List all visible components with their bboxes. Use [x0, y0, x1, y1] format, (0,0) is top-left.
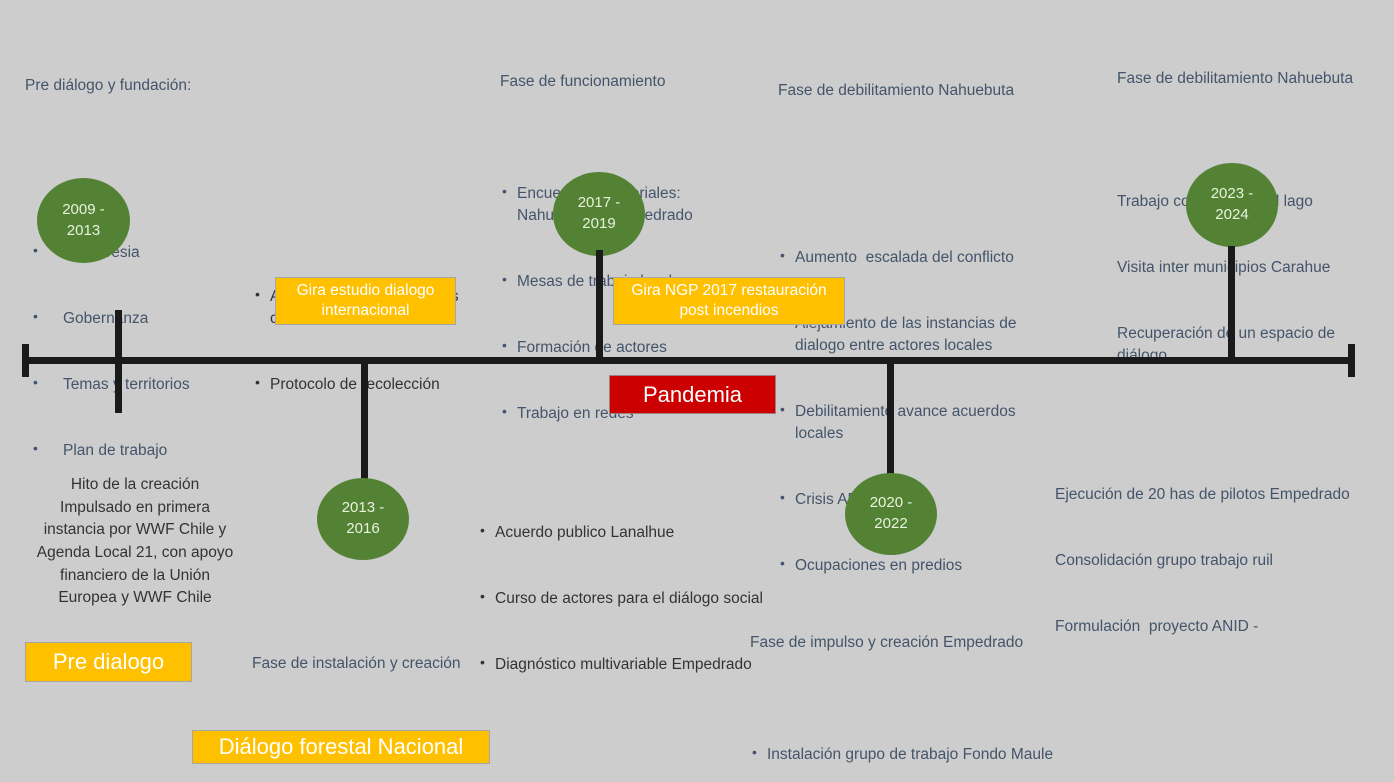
phase-impulso-empedrado-heading: Fase de impulso y creación Empedrado	[750, 632, 1090, 654]
timeline-axis-cap-left	[22, 344, 29, 377]
phase-debilitamiento-1-block: Fase de debilitamiento Nahuebuta Aumento…	[778, 36, 1040, 665]
timeline-stem-2017-2019	[596, 250, 603, 360]
list-item: Formación de actores	[500, 337, 750, 359]
phase-debilitamiento-2-heading: Fase de debilitamiento Nahuebuta	[1117, 68, 1379, 90]
phase-impulso-empedrado-block: Fase de impulso y creación Empedrado Ins…	[750, 588, 1090, 782]
gira-ngp-box[interactable]: Gira NGP 2017 restauración post incendio…	[613, 277, 845, 325]
spacer	[1117, 136, 1379, 147]
pre-dialogo-box[interactable]: Pre dialogo	[25, 642, 192, 682]
timeline-diagram: Pre diálogo y fundación: Membresia Gober…	[0, 0, 1394, 782]
list-item: Protocolo de recolección	[253, 374, 463, 396]
phase-pre-dialogo-heading: Pre diálogo y fundación:	[25, 75, 305, 97]
phase-impulso-empedrado-bullets: Instalación grupo de trabajo Fondo Maule…	[750, 700, 1090, 782]
acuerdo-futa-bullets: Acuerdo publico Futa y tres chiflones Pr…	[253, 242, 463, 440]
pandemia-badge[interactable]: Pandemia	[609, 375, 776, 414]
milestone-circle-2020-2022[interactable]: 2020 - 2022	[845, 473, 937, 555]
milestone-circle-2017-2019[interactable]: 2017 - 2019	[553, 172, 645, 256]
list-item: Curso de actores para el diálogo social	[478, 588, 788, 610]
phase-instalacion-heading: Fase de instalación y creación	[252, 653, 542, 675]
phase-debilitamiento-1-bullets: Aumento escalada del conflicto Alejamien…	[778, 203, 1040, 621]
timeline-stem-2023-2024	[1228, 246, 1235, 361]
list-item: Instalación grupo de trabajo Fondo Maule	[750, 744, 1090, 766]
phase-funcionamiento-heading: Fase de funcionamiento	[500, 71, 750, 93]
text-line: Formulación proyecto ANID -	[1055, 616, 1385, 638]
dialogo-forestal-nacional-box[interactable]: Diálogo forestal Nacional	[192, 730, 490, 764]
text-line: Ejecución de 20 has de pilotos Empedrado	[1055, 484, 1385, 506]
milestone-circle-2009-2013[interactable]: 2009 - 2013	[37, 178, 130, 263]
list-item: Aumento escalada del conflicto	[778, 247, 1040, 269]
timeline-stem-2013-2016	[361, 360, 368, 490]
phase-instalacion-bullets: Diagnósticos territoriales Planes de tra…	[252, 776, 542, 782]
gira-estudio-dialogo-box[interactable]: Gira estudio dialogo internacional	[275, 277, 456, 325]
text-line: Consolidación grupo trabajo ruil	[1055, 550, 1385, 572]
timeline-axis-cap-right	[1348, 344, 1355, 377]
milestone-circle-2013-2016[interactable]: 2013 - 2016	[317, 478, 409, 560]
spacer	[25, 143, 305, 154]
ejecucion-pilotos-block: Ejecución de 20 has de pilotos Empedrado…	[1055, 440, 1385, 682]
timeline-axis	[22, 357, 1355, 364]
timeline-stem-2020-2022	[887, 360, 894, 485]
spacer	[778, 148, 1040, 159]
phase-debilitamiento-1-heading: Fase de debilitamiento Nahuebuta	[778, 80, 1040, 102]
text-line: Visita inter municipios Carahue	[1117, 257, 1379, 279]
timeline-tick-2009	[115, 310, 122, 413]
hito-creacion-text: Hito de la creación Impulsado en primera…	[30, 474, 240, 610]
acuerdo-futa-block: Acuerdo publico Futa y tres chiflones Pr…	[253, 198, 463, 484]
list-item: Acuerdo publico Lanalhue	[478, 522, 788, 544]
list-item: Ocupaciones en predios	[778, 555, 1040, 577]
list-item: Debilitamiento avance acuerdos locales	[778, 401, 1040, 445]
milestone-circle-2023-2024[interactable]: 2023 - 2024	[1186, 163, 1278, 247]
